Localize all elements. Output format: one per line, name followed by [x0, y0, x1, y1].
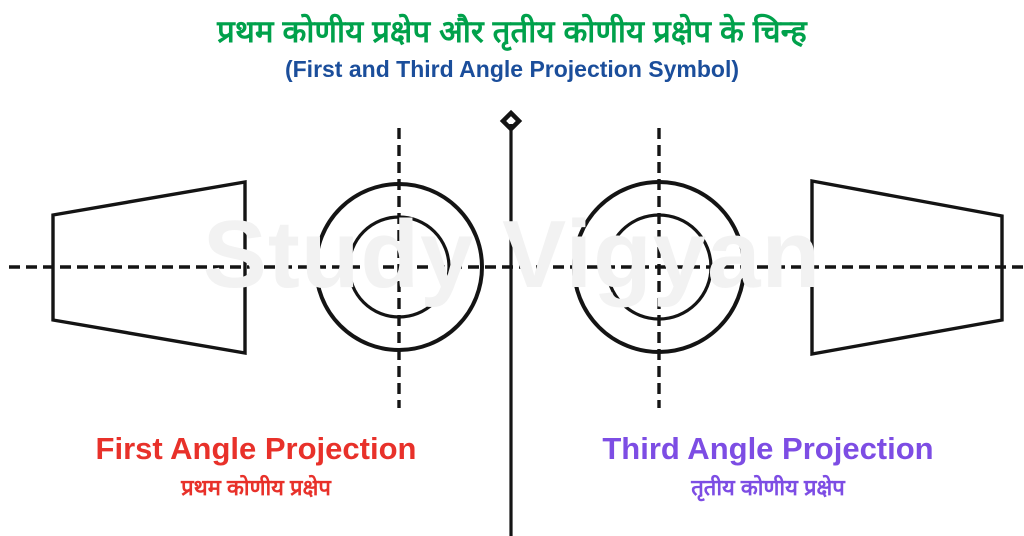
projection-symbol-diagram: Study Vigyan प्रथम कोणीय प्रक्षेप और तृत…: [0, 0, 1024, 536]
first-angle-label-english: First Angle Projection: [0, 432, 512, 466]
page-title-hindi: प्रथम कोणीय प्रक्षेप और तृतीय कोणीय प्रक…: [0, 0, 1024, 50]
third-angle-caption-block: Third Angle Projection तृतीय कोणीय प्रक्…: [512, 432, 1024, 536]
first-angle-label-hindi: प्रथम कोणीय प्रक्षेप: [0, 466, 512, 500]
caption-row: First Angle Projection प्रथम कोणीय प्रक्…: [0, 432, 1024, 536]
watermark-text: Study Vigyan: [0, 207, 1024, 303]
divider-diamond-marker: [503, 113, 519, 129]
page-subtitle-english: (First and Third Angle Projection Symbol…: [0, 50, 1024, 82]
header: प्रथम कोणीय प्रक्षेप और तृतीय कोणीय प्रक…: [0, 0, 1024, 104]
third-angle-label-english: Third Angle Projection: [512, 432, 1024, 466]
first-angle-caption-block: First Angle Projection प्रथम कोणीय प्रक्…: [0, 432, 512, 536]
third-angle-label-hindi: तृतीय कोणीय प्रक्षेप: [512, 466, 1024, 500]
